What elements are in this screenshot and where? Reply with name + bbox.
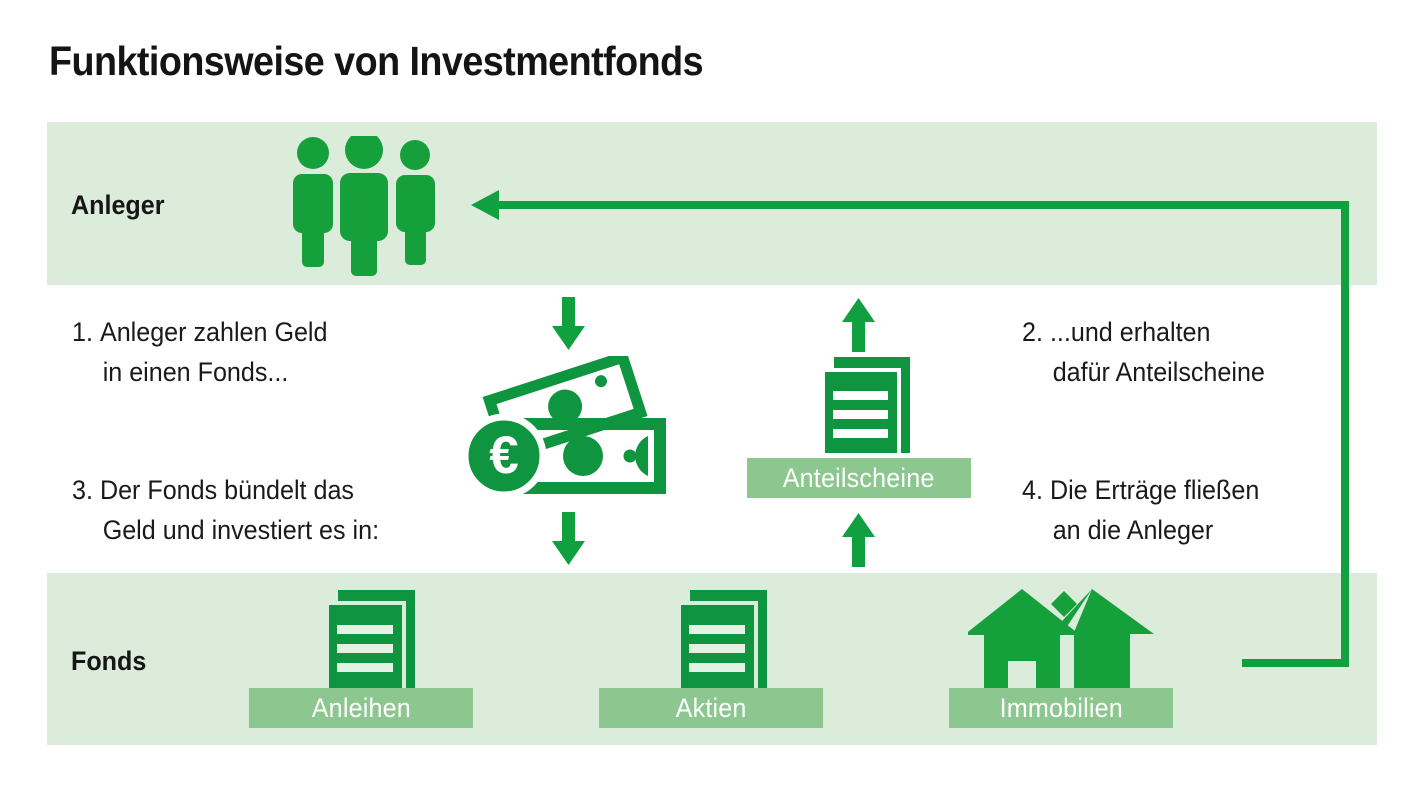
caption-anleihen-label: Anleihen <box>311 693 410 724</box>
caption-aktien-label: Aktien <box>676 693 747 724</box>
documents-icon-anteilscheine <box>800 355 912 462</box>
caption-immobilien-label: Immobilien <box>999 693 1122 724</box>
caption-anteilscheine: Anteilscheine <box>747 458 971 498</box>
step-4: 4. Die Erträge fließen an die Anleger <box>1022 470 1259 550</box>
band-label-fonds: Fonds <box>71 646 146 677</box>
infographic-canvas: Funktionsweise von Investmentfonds Anleg… <box>0 0 1424 791</box>
person-middle <box>340 136 388 276</box>
documents-icon-aktien <box>655 588 769 698</box>
step-4-line1: 4. Die Erträge fließen <box>1022 475 1259 505</box>
arrow-down-fund-invests <box>552 512 585 565</box>
step-2-line1: 2. ...und erhalten <box>1022 317 1210 347</box>
page-title: Funktionsweise von Investmentfonds <box>49 38 703 85</box>
two-houses-icon <box>968 585 1160 697</box>
step-1-line1: 1. Anleger zahlen Geld <box>72 317 327 347</box>
band-label-anleger: Anleger <box>71 190 164 221</box>
person-left <box>293 137 333 267</box>
banknotes-euro-coin-icon: € <box>460 356 670 500</box>
step-1: 1. Anleger zahlen Geld in einen Fonds... <box>72 312 327 392</box>
step-3-line1: 3. Der Fonds bündelt das <box>72 475 354 505</box>
band-anleger: Anleger <box>47 122 1377 285</box>
person-right <box>396 140 435 265</box>
step-2-line2: dafür Anteilscheine <box>1022 352 1265 392</box>
step-1-line2: in einen Fonds... <box>72 352 327 392</box>
arrow-up-fund-to-shares <box>842 513 875 567</box>
step-2: 2. ...und erhalten dafür Anteilscheine <box>1022 312 1265 392</box>
three-people-icon <box>289 136 441 276</box>
arrow-up-shares-to-investors <box>842 298 875 352</box>
step-3-line2: Geld und investiert es in: <box>72 510 379 550</box>
arrow-down-investors-to-fund <box>552 297 585 350</box>
caption-anteilscheine-label: Anteilscheine <box>783 463 935 494</box>
documents-icon-anleihen <box>303 588 417 698</box>
euro-coin: € <box>465 417 543 495</box>
caption-aktien: Aktien <box>599 688 823 728</box>
step-3: 3. Der Fonds bündelt das Geld und invest… <box>72 470 379 550</box>
caption-immobilien: Immobilien <box>949 688 1173 728</box>
svg-text:€: € <box>489 426 518 485</box>
caption-anleihen: Anleihen <box>249 688 473 728</box>
step-4-line2: an die Anleger <box>1022 510 1259 550</box>
